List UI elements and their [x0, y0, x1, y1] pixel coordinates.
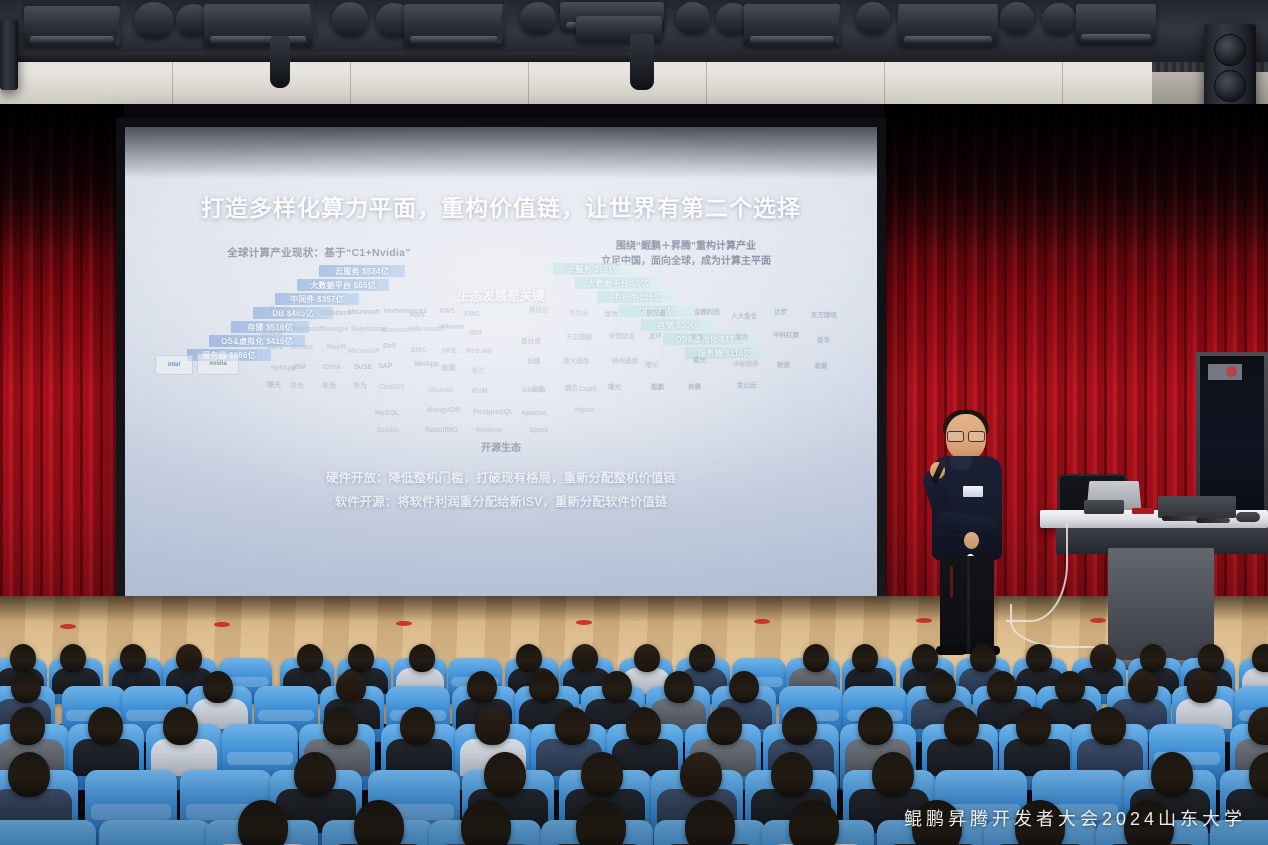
vendor-label: 安恒信息 [609, 330, 635, 340]
vendor-label: 人大金仓 [731, 310, 757, 320]
stage-light [1042, 3, 1076, 35]
audience-member-head [852, 644, 878, 672]
audience-member-head [1198, 644, 1224, 672]
stage-light [24, 6, 120, 46]
audience-member-head [626, 707, 661, 745]
auditorium-seat [0, 820, 96, 845]
vendor-label: 曙光 [267, 380, 281, 390]
audience-member-head [602, 671, 632, 703]
stage-light [1076, 4, 1156, 44]
vendor-label: 达梦 [774, 306, 787, 316]
cable-coil [1236, 512, 1260, 522]
vendor-label: 长城 [527, 355, 540, 365]
stage-light [520, 2, 556, 34]
vendor-label: 华为 [691, 331, 704, 341]
projection-screen[interactable]: 打造多样化算力平面，重构价值链，让世界有第二个选择 全球计算产业现状：基于“C1… [125, 127, 877, 599]
name-badge [963, 486, 983, 497]
vendor-label: Ubuntu [428, 387, 453, 394]
audience-member-head [516, 644, 542, 672]
audience-member-head [336, 671, 366, 703]
vendor-label: Spark [529, 427, 548, 434]
speaker-hand-clicker [964, 532, 979, 549]
vendor-label: 腾讯云 [529, 304, 549, 314]
vendor-label: PostgreSQL [473, 409, 513, 416]
media-box [1084, 500, 1124, 514]
screen-top-shade [125, 127, 877, 179]
vendor-label: KVM [472, 388, 488, 395]
audience-member-head [409, 644, 435, 672]
audience-member-head [484, 752, 526, 797]
vendor-label: 华为 [735, 331, 748, 341]
nvidia-logo: nvidia [197, 353, 239, 375]
audience-member-head [8, 752, 50, 797]
vendor-label: Oracle [269, 306, 291, 313]
event-watermark: 鲲鹏昇腾开发者大会2024山东大学 [904, 805, 1246, 831]
vendor-label: Microsoft [293, 326, 325, 333]
audience-member-head [707, 707, 742, 745]
vendor-label: Hadoop [476, 427, 502, 434]
vendor-label: IBM [469, 330, 482, 337]
vendor-label: VMware [438, 324, 464, 331]
monitor-osd-indicator [1226, 366, 1237, 377]
stage-light [204, 4, 312, 46]
vendor-label: MapR [327, 344, 346, 351]
vendor-label: HPE [442, 348, 456, 355]
vendor-label: 中科红旗 [773, 329, 799, 339]
vendor-label: NetApp [414, 361, 439, 368]
hanging-light-fixture [630, 34, 654, 90]
vendor-label: CentOS [379, 384, 405, 391]
slide-bullets: 硬件开放：降低整机门槛，打破现有格局，重新分配整机价值链 软件开源：将软件利润重… [125, 467, 877, 515]
audience-member-head [944, 707, 979, 745]
audience-member-head [176, 644, 202, 672]
audience-member-head [203, 671, 233, 703]
audience-member-head [11, 671, 41, 703]
vendor-label: Cloudera [320, 310, 350, 317]
vendor-label: 星环 [649, 330, 662, 340]
audience-member-head [60, 644, 86, 672]
vendor-label: EMC [464, 311, 480, 318]
handheld-microphone[interactable] [1162, 516, 1198, 521]
vendor-label: AWS [409, 312, 425, 319]
vendor-label: 华为 [353, 381, 367, 391]
audience-member-head [926, 671, 956, 703]
conference-photo: 打造多样化算力平面，重构价值链，让世界有第二个选择 全球计算产业现状：基于“C1… [0, 0, 1268, 845]
audience-member-head [294, 752, 336, 797]
audience-member-head [872, 752, 914, 797]
audience-member-head [400, 707, 435, 745]
audience-member-head [987, 671, 1017, 703]
audience-member-head [581, 752, 623, 797]
vendor-label: EMC [411, 347, 427, 354]
vendor-label: 普华 [817, 334, 830, 344]
audience-member-head [680, 752, 722, 797]
vendor-label: SuSE [354, 364, 372, 371]
speaker-presenter [916, 414, 1026, 654]
av-switcher [1158, 496, 1236, 518]
vendor-label: AWS [439, 308, 455, 315]
audience-member-head [771, 752, 813, 797]
trouser-stripe [950, 566, 953, 598]
vendor-label: 中标软件 [733, 358, 759, 368]
pyramid-layer: 中间件 $11亿 [597, 291, 677, 303]
vendor-label: 联想 [777, 359, 790, 369]
vendor-label: Red Hat [466, 348, 492, 355]
audience-member-head [467, 671, 497, 703]
vendor-label: 曙光 [645, 359, 658, 369]
vendor-label: 南大通用 [563, 355, 589, 365]
slide-title: 打造多样化算力平面，重构价值链，让世界有第二个选择 [125, 189, 877, 223]
vendor-label: Nginx [575, 407, 594, 414]
stage-light [404, 4, 504, 46]
vendor-label: 昇腾 [688, 381, 701, 391]
audience-member-head [120, 644, 146, 672]
audience-member-head [297, 644, 323, 672]
audience-member-head [10, 707, 45, 745]
monitor-screen [1200, 356, 1264, 518]
audience-member-head [858, 707, 893, 745]
vendor-label: IBM [293, 364, 306, 371]
vendor-label: 华为 [605, 308, 618, 318]
audience-member-head [729, 671, 759, 703]
audience-member-head [555, 707, 590, 745]
vendor-label: MySQL [375, 410, 399, 417]
vendor-label: 方正国际 [566, 331, 592, 341]
audience-member-head [1151, 752, 1193, 797]
audience-member-head [475, 707, 510, 745]
polo-collar [950, 456, 972, 470]
audience-member-head [238, 800, 288, 845]
eyeglasses-icon [947, 431, 985, 440]
audience-member-head [1091, 707, 1126, 745]
pyramid-layer: 大数据平台 $6亿 [575, 277, 661, 289]
vendor-label: 华为 [322, 381, 336, 391]
vendor-label: 神州通用 [612, 355, 638, 365]
red-notebook [1132, 508, 1154, 514]
slide-bullet-hardware: 硬件开放：降低整机门槛，打破现有格局，重新分配整机价值链 [125, 467, 877, 491]
vendor-label: RabbitMQ [425, 427, 458, 434]
audience-member-head [572, 644, 598, 672]
vendor-label: 浪潮 [814, 360, 827, 370]
vendor-label: SAP [378, 363, 392, 370]
pyramid-layer: 云服务 $56亿 [553, 263, 631, 275]
stage-light [332, 2, 368, 36]
stage-light [676, 2, 710, 34]
vendor-label: 鲲鹏 [651, 381, 664, 391]
oss-ecosystem-label: 开源生态 [125, 439, 877, 454]
vendor-label: Veritas [290, 344, 313, 351]
vendor-label: Oracle [261, 330, 283, 337]
audience-member-head [1016, 707, 1051, 745]
audience-member-head [634, 644, 660, 672]
audience-member-head [323, 707, 358, 745]
slide-bullet-software: 软件开源：将软件利润重分配给新ISV，重新分配软件价值链 [125, 491, 877, 515]
audience-member-head [689, 644, 715, 672]
oss-vendor-cloud: CentOSUbuntuKVMGlusterCephMySQLMongoDBPo… [375, 383, 625, 445]
vendor-label: 百分点 [521, 335, 541, 345]
vendor-label: Ceph [579, 386, 597, 393]
stage-light [134, 2, 174, 38]
slide-right-subtitle-line1: 围绕“鲲鹏＋昇腾”重构计算产业 [541, 239, 831, 254]
intel-logo: intel [155, 355, 193, 375]
vendor-label: Dell [383, 343, 396, 350]
audience-member-head [529, 671, 559, 703]
vendor-label: IBM [297, 309, 310, 316]
vendor-label: Microsoft [381, 327, 413, 334]
vendor-label: Gluster [522, 387, 547, 394]
vendor-label: Dubbo [377, 427, 399, 434]
audience-member-head [163, 707, 198, 745]
audience-member-head [803, 644, 829, 672]
vendor-label: 华三 [471, 366, 485, 376]
audience-member-head [348, 644, 374, 672]
vendor-label: AWS [267, 344, 283, 351]
vendor-label: 华为云 [569, 307, 589, 317]
audience-member-head [1140, 644, 1166, 672]
hanging-light-fixture [270, 36, 290, 88]
audience-member-head [782, 707, 817, 745]
vendor-label: Microsoft [348, 309, 380, 316]
vendor-label: 华为 [290, 381, 304, 391]
audience-member-head [1026, 644, 1052, 672]
slide-left-subtitle: 全球计算产业现状：基于“C1+Nvidia” [169, 245, 469, 260]
vendor-label: Citrix [323, 364, 341, 371]
auditorium-seat [99, 820, 211, 845]
audience-member-head [1252, 644, 1268, 672]
vendor-label: 东方国信 [811, 309, 837, 319]
audience-member-head [1055, 671, 1085, 703]
handheld-microphone[interactable] [1196, 518, 1230, 523]
vendor-label: 紫光 [693, 354, 706, 364]
vendor-label: Google [324, 326, 348, 333]
stage-light [856, 2, 890, 34]
audience-member-head [664, 671, 694, 703]
audience-member-head [970, 644, 996, 672]
pyramid-layer: 中间件 $357亿 [275, 293, 359, 305]
audience-member-head [1090, 644, 1116, 672]
vendor-label: Apache [521, 410, 546, 417]
audience-member-head [1128, 671, 1158, 703]
vendor-label: 浪潮 [441, 363, 455, 373]
vendor-label: Microsoft [348, 348, 380, 355]
vendor-label: 金蝶科技 [694, 306, 720, 316]
audience-member-head [912, 644, 938, 672]
pyramid-layer: 云服务 $524亿 [319, 265, 405, 277]
stage-light [898, 4, 998, 46]
stage-curtain-left [0, 104, 124, 624]
vendor-label: 东方通 [646, 307, 666, 317]
stage-light [1000, 2, 1034, 34]
audience-member-head [88, 707, 123, 745]
pyramid-layer: 大数据平台 $65亿 [297, 279, 389, 291]
projection-screen-frame: 打造多样化算力平面，重构价值链，让世界有第二个选择 全球计算产业现状：基于“C1… [116, 118, 886, 608]
audience-member-head [1248, 707, 1268, 745]
side-speaker-left [0, 20, 18, 90]
stage-light [744, 4, 840, 46]
audience-member-head [10, 644, 36, 672]
vendor-label: 金山云 [737, 379, 757, 389]
audience-member-head [1187, 671, 1217, 703]
vendor-label: MongoDB [427, 407, 460, 414]
